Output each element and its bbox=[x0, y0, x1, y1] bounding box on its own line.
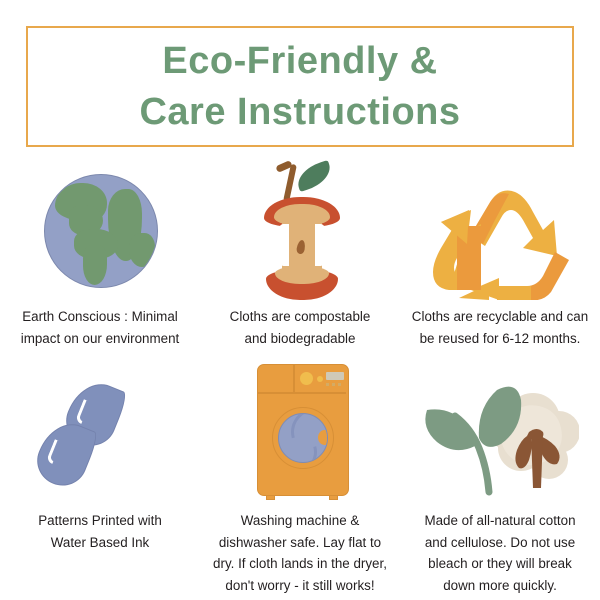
water-droplets-icon bbox=[15, 360, 185, 510]
caption-line: impact on our environment bbox=[2, 328, 198, 350]
recycle-icon bbox=[415, 156, 585, 306]
caption-line: Washing machine & bbox=[202, 510, 398, 532]
caption-line: Made of all-natural cotton bbox=[402, 510, 598, 532]
feature-caption-recyclable: Cloths are recyclable and can be reused … bbox=[402, 306, 598, 349]
feature-grid: Earth Conscious : Minimal impact on our … bbox=[0, 152, 600, 600]
caption-line: bleach or they will break bbox=[402, 553, 598, 575]
caption-line: Water Based Ink bbox=[2, 532, 198, 554]
feature-card-washing: Washing machine & dishwasher safe. Lay f… bbox=[200, 360, 400, 597]
caption-line: and biodegradable bbox=[202, 328, 398, 350]
feature-card-compostable: Cloths are compostable and biodegradable bbox=[200, 156, 400, 349]
caption-line: down more quickly. bbox=[402, 575, 598, 597]
feature-card-recyclable: Cloths are recyclable and can be reused … bbox=[400, 156, 600, 349]
caption-line: and cellulose. Do not use bbox=[402, 532, 598, 554]
feature-caption-compostable: Cloths are compostable and biodegradable bbox=[202, 306, 398, 349]
earth-globe-icon bbox=[15, 156, 185, 306]
caption-line: don't worry - it still works! bbox=[202, 575, 398, 597]
infographic-page: Eco-Friendly & Care Instructions Earth C… bbox=[0, 0, 600, 600]
feature-card-natural-cotton: Made of all-natural cotton and cellulose… bbox=[400, 360, 600, 597]
caption-line: dry. If cloth lands in the dryer, bbox=[202, 553, 398, 575]
feature-card-water-based-ink: Patterns Printed with Water Based Ink bbox=[0, 360, 200, 553]
cotton-plant-icon bbox=[415, 360, 585, 510]
washing-machine-icon bbox=[215, 360, 385, 510]
page-title-line-1: Eco-Friendly & bbox=[162, 36, 437, 87]
caption-line: Cloths are recyclable and can bbox=[402, 306, 598, 328]
apple-core-icon bbox=[215, 156, 385, 306]
feature-caption-water-based-ink: Patterns Printed with Water Based Ink bbox=[2, 510, 198, 553]
caption-line: Cloths are compostable bbox=[202, 306, 398, 328]
title-box: Eco-Friendly & Care Instructions bbox=[26, 26, 574, 147]
caption-line: dishwasher safe. Lay flat to bbox=[202, 532, 398, 554]
caption-line: Earth Conscious : Minimal bbox=[2, 306, 198, 328]
feature-card-earth-conscious: Earth Conscious : Minimal impact on our … bbox=[0, 156, 200, 349]
feature-caption-earth-conscious: Earth Conscious : Minimal impact on our … bbox=[2, 306, 198, 349]
feature-caption-natural-cotton: Made of all-natural cotton and cellulose… bbox=[402, 510, 598, 597]
page-title-line-2: Care Instructions bbox=[139, 87, 460, 138]
caption-line: Patterns Printed with bbox=[2, 510, 198, 532]
feature-caption-washing: Washing machine & dishwasher safe. Lay f… bbox=[202, 510, 398, 597]
caption-line: be reused for 6-12 months. bbox=[402, 328, 598, 350]
